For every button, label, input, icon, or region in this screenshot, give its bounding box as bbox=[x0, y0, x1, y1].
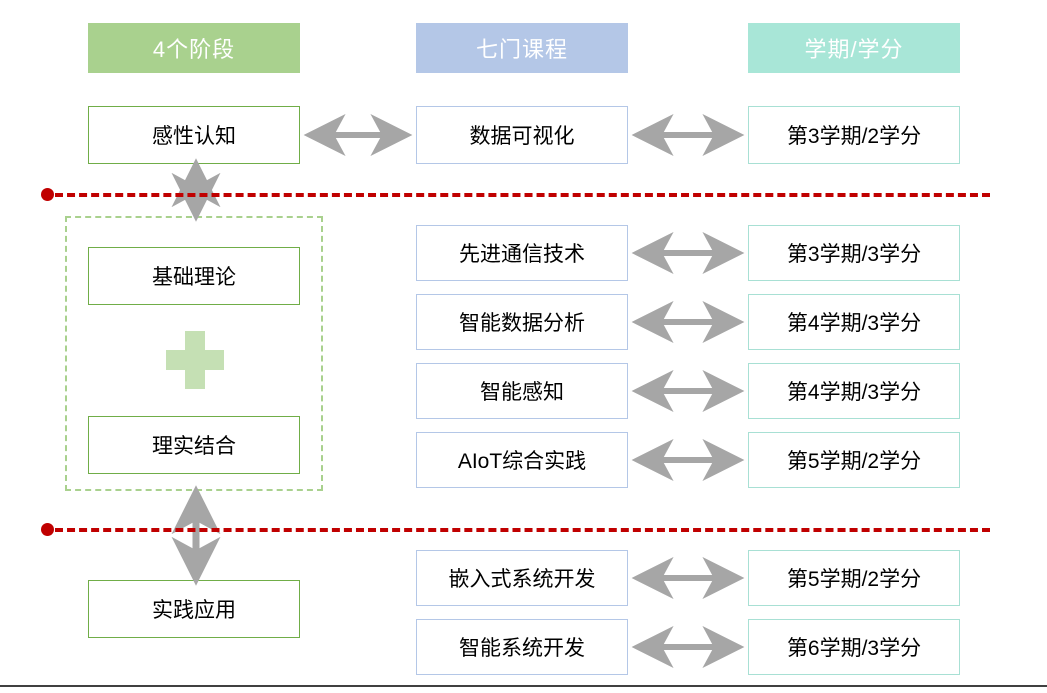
course-label: 嵌入式系统开发 bbox=[449, 563, 596, 593]
diagram-canvas: 4个阶段 七门课程 学期/学分 感性认知 基础理论 理实结合 实践应用 数据可视… bbox=[0, 0, 1047, 693]
stage-box-theory-practice[interactable]: 理实结合 bbox=[88, 416, 300, 474]
term-box-7[interactable]: 第6学期/3学分 bbox=[748, 619, 960, 675]
course-label: AIoT综合实践 bbox=[458, 445, 586, 475]
stage-box-perceptual-cognition[interactable]: 感性认知 bbox=[88, 106, 300, 164]
term-label: 第4学期/3学分 bbox=[787, 307, 921, 337]
bottom-rule bbox=[0, 685, 1047, 687]
column-header-courses-label: 七门课程 bbox=[476, 32, 568, 64]
stage-label: 实践应用 bbox=[152, 594, 236, 624]
course-label: 数据可视化 bbox=[470, 120, 575, 150]
column-header-courses: 七门课程 bbox=[416, 23, 628, 73]
course-box-intelligent-system-dev[interactable]: 智能系统开发 bbox=[416, 619, 628, 675]
course-box-intelligent-sensing[interactable]: 智能感知 bbox=[416, 363, 628, 419]
course-box-embedded-system-dev[interactable]: 嵌入式系统开发 bbox=[416, 550, 628, 606]
course-box-advanced-comm-tech[interactable]: 先进通信技术 bbox=[416, 225, 628, 281]
term-label: 第5学期/2学分 bbox=[787, 563, 921, 593]
term-box-5[interactable]: 第5学期/2学分 bbox=[748, 432, 960, 488]
term-label: 第3学期/3学分 bbox=[787, 238, 921, 268]
column-header-terms-label: 学期/学分 bbox=[804, 32, 903, 64]
term-box-4[interactable]: 第4学期/3学分 bbox=[748, 363, 960, 419]
stage-label: 基础理论 bbox=[152, 261, 236, 291]
column-header-stages: 4个阶段 bbox=[88, 23, 300, 73]
course-box-intelligent-data-analysis[interactable]: 智能数据分析 bbox=[416, 294, 628, 350]
column-header-stages-label: 4个阶段 bbox=[153, 32, 235, 64]
divider-line-2 bbox=[55, 528, 990, 532]
term-label: 第4学期/3学分 bbox=[787, 376, 921, 406]
stage-box-practical-application[interactable]: 实践应用 bbox=[88, 580, 300, 638]
course-box-aiot-practice[interactable]: AIoT综合实践 bbox=[416, 432, 628, 488]
term-box-2[interactable]: 第3学期/3学分 bbox=[748, 225, 960, 281]
divider-dot-2 bbox=[41, 523, 54, 536]
term-label: 第6学期/3学分 bbox=[787, 632, 921, 662]
divider-line-1 bbox=[55, 193, 990, 197]
term-box-1[interactable]: 第3学期/2学分 bbox=[748, 106, 960, 164]
column-header-terms: 学期/学分 bbox=[748, 23, 960, 73]
term-box-6[interactable]: 第5学期/2学分 bbox=[748, 550, 960, 606]
plus-icon bbox=[166, 331, 224, 389]
term-box-3[interactable]: 第4学期/3学分 bbox=[748, 294, 960, 350]
term-label: 第5学期/2学分 bbox=[787, 445, 921, 475]
plus-icon-vertical-bar bbox=[185, 331, 205, 389]
term-label: 第3学期/2学分 bbox=[787, 120, 921, 150]
stage-box-basic-theory[interactable]: 基础理论 bbox=[88, 247, 300, 305]
stage-label: 感性认知 bbox=[152, 120, 236, 150]
divider-dot-1 bbox=[41, 188, 54, 201]
course-label: 智能数据分析 bbox=[459, 307, 585, 337]
course-label: 智能感知 bbox=[480, 376, 564, 406]
course-box-data-visualization[interactable]: 数据可视化 bbox=[416, 106, 628, 164]
course-label: 智能系统开发 bbox=[459, 632, 585, 662]
stage-label: 理实结合 bbox=[152, 430, 236, 460]
course-label: 先进通信技术 bbox=[459, 238, 585, 268]
